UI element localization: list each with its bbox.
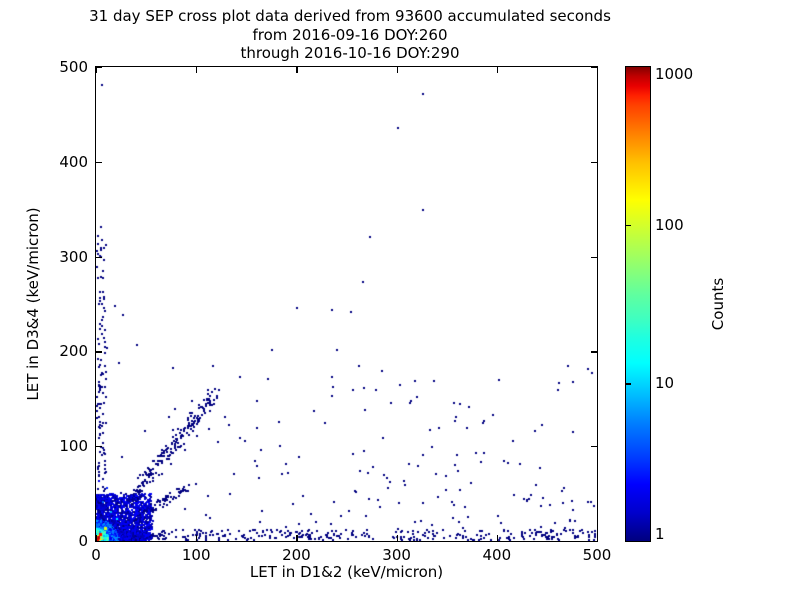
x-tick-label: 300 [382, 546, 411, 564]
x-tick-mark-top [497, 67, 498, 73]
x-tick-mark [497, 535, 498, 541]
plot-area [95, 66, 598, 542]
x-tick-label: 500 [583, 546, 612, 564]
x-tick-label: 100 [182, 546, 211, 564]
y-tick-label: 200 [59, 342, 88, 360]
x-tick-mark-top [397, 67, 398, 73]
x-tick-mark-top [597, 67, 598, 73]
colorbar-title: Counts [709, 278, 727, 330]
x-tick-label: 400 [482, 546, 511, 564]
y-tick-mark [96, 257, 102, 258]
y-tick-mark [96, 351, 102, 352]
y-tick-mark [96, 541, 102, 542]
y-tick-mark-right [591, 541, 597, 542]
y-tick-mark-right [591, 446, 597, 447]
y-tick-label: 400 [59, 153, 88, 171]
y-axis-title-wrapper: LET in D3&4 (keV/micron) [33, 0, 53, 600]
colorbar: 1101001000 [625, 66, 651, 542]
y-tick-label: 0 [78, 532, 88, 550]
y-tick-label: 500 [59, 58, 88, 76]
y-axis-title: LET in D3&4 (keV/micron) [24, 207, 42, 400]
x-tick-mark [397, 535, 398, 541]
colorbar-tick-label: 1000 [655, 65, 693, 83]
colorbar-tick-label: 10 [655, 374, 674, 392]
scatter-heatmap-layer [96, 67, 597, 541]
colorbar-tick-mark [625, 225, 631, 226]
colorbar-tick-label: 1 [655, 525, 665, 543]
y-tick-mark [96, 67, 102, 68]
x-tick-mark [196, 535, 197, 541]
x-tick-label: 0 [91, 546, 101, 564]
y-tick-label: 300 [59, 248, 88, 266]
y-tick-mark [96, 446, 102, 447]
colorbar-tick-label: 100 [655, 216, 684, 234]
title-line-1: 31 day SEP cross plot data derived from … [0, 7, 700, 26]
y-tick-mark-right [591, 351, 597, 352]
y-tick-mark-right [591, 257, 597, 258]
title-line-3: through 2016-10-16 DOY:290 [0, 44, 700, 63]
x-tick-label: 200 [282, 546, 311, 564]
x-tick-mark-top [296, 67, 297, 73]
x-tick-mark-top [196, 67, 197, 73]
figure-canvas: 31 day SEP cross plot data derived from … [0, 0, 800, 600]
x-tick-mark [597, 535, 598, 541]
title-line-2: from 2016-09-16 DOY:260 [0, 26, 700, 45]
x-tick-mark [296, 535, 297, 541]
chart-title: 31 day SEP cross plot data derived from … [0, 7, 700, 63]
x-axis-title: LET in D1&2 (keV/micron) [95, 563, 598, 581]
y-tick-mark [96, 162, 102, 163]
colorbar-gradient [625, 66, 651, 542]
y-tick-label: 100 [59, 437, 88, 455]
y-tick-mark-right [591, 162, 597, 163]
colorbar-tick-mark [625, 383, 631, 384]
y-tick-mark-right [591, 67, 597, 68]
